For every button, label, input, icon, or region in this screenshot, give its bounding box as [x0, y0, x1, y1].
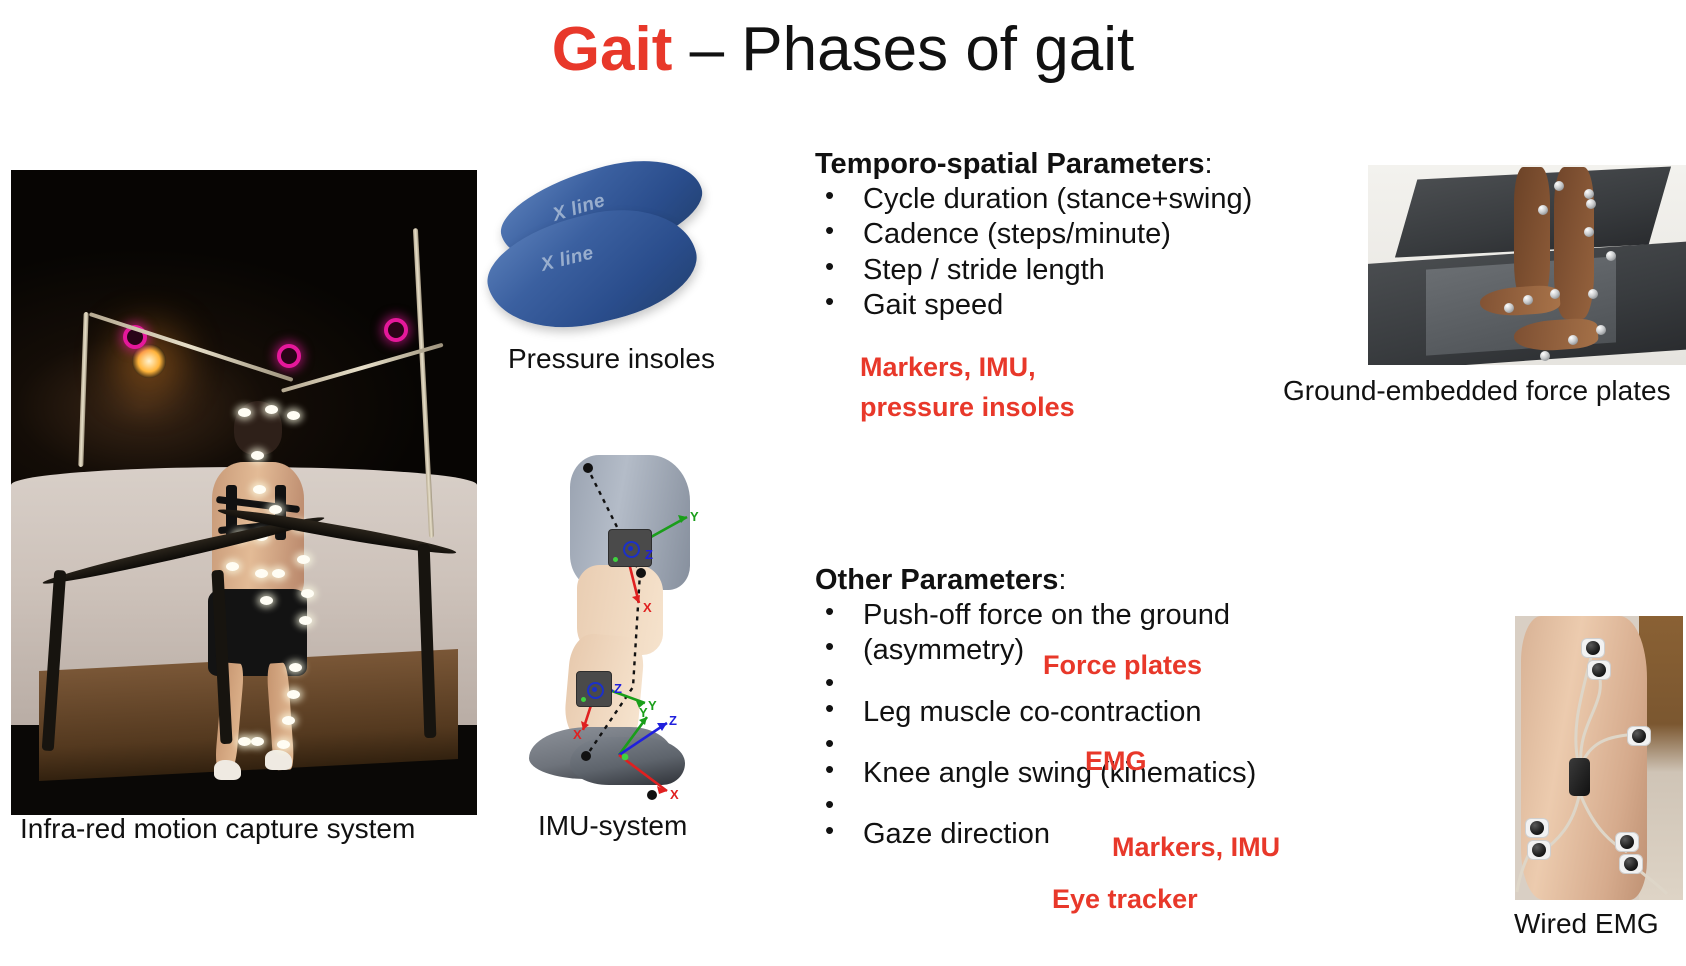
list-spacer	[815, 791, 1285, 817]
caption-motion-capture: Infra-red motion capture system	[20, 813, 415, 845]
emg-electrode	[1587, 660, 1611, 680]
temporo-heading-tail: :	[1205, 148, 1213, 180]
caption-wired-emg: Wired EMG	[1514, 908, 1659, 940]
emg-electrode	[1627, 726, 1651, 746]
ir-camera-led-icon	[384, 318, 408, 342]
axis-label-x: X	[643, 600, 652, 615]
emg-electrode	[1527, 840, 1551, 860]
subject-leg	[1514, 167, 1550, 303]
emg-electrode	[1581, 638, 1605, 658]
tag-eye-tracker: Eye tracker	[1052, 884, 1198, 915]
axis-label-y: Y	[639, 705, 648, 720]
reflective-marker	[1523, 295, 1533, 305]
subject-right-shoe	[265, 750, 292, 770]
motion-capture-photo	[11, 170, 477, 815]
list-item: Step / stride length	[815, 253, 1285, 288]
list-item: Push-off force on the ground	[815, 598, 1285, 633]
reflective-marker	[1568, 335, 1578, 345]
temporo-spatial-block: Temporo-spatial Parameters: Cycle durati…	[815, 147, 1285, 323]
title-accent: Gait	[552, 15, 673, 84]
tag-emg: EMG	[1085, 746, 1147, 777]
caption-force-plates: Ground-embedded force plates	[1283, 375, 1671, 407]
reflective-marker	[1606, 251, 1616, 261]
list-item: Gait speed	[815, 288, 1285, 323]
insole-brand-label: X line	[539, 243, 596, 277]
axis-label-x: X	[573, 727, 582, 742]
emg-electrode	[1619, 854, 1643, 874]
temporo-tag-line1: Markers, IMU,	[860, 352, 1036, 383]
axis-label-x: X	[670, 787, 679, 802]
reflective-marker	[1586, 199, 1596, 209]
emg-electrode	[1615, 832, 1639, 852]
reflective-marker	[1588, 289, 1598, 299]
axis-label-y: Y	[648, 698, 657, 713]
force-plates-photo	[1368, 165, 1686, 365]
reflective-marker	[1554, 181, 1564, 191]
tag-force-plates: Force plates	[1043, 650, 1202, 681]
temporo-heading-bold: Temporo-spatial Parameters	[815, 148, 1205, 180]
joint-marker	[583, 463, 593, 473]
caption-pressure-insoles: Pressure insoles	[508, 343, 715, 375]
axis-label-z: Z	[614, 681, 622, 696]
joint-marker	[647, 790, 657, 800]
axis-label-y: Y	[690, 509, 699, 524]
reflective-marker	[1584, 227, 1594, 237]
temporo-tag-line2: pressure insoles	[860, 392, 1075, 423]
other-parameters-block: Other Parameters: Push-off force on the …	[815, 563, 1285, 853]
list-spacer	[815, 730, 1285, 756]
subject-left-shoe	[214, 760, 241, 780]
list-item: Knee angle swing (kinematics)	[815, 756, 1285, 791]
imu-system-illustration: Y X Z Y X Z Y Z X	[515, 455, 725, 825]
emg-amplifier-module	[1569, 758, 1590, 796]
joint-marker	[636, 568, 646, 578]
temporo-heading: Temporo-spatial Parameters:	[815, 147, 1285, 182]
reflective-marker	[1538, 205, 1548, 215]
list-item: Cycle duration (stance+swing)	[815, 182, 1285, 217]
reflective-marker	[1540, 351, 1550, 361]
reflective-marker	[1550, 289, 1560, 299]
reflective-marker	[1504, 303, 1514, 313]
temporo-bullet-list: Cycle duration (stance+swing) Cadence (s…	[815, 182, 1285, 324]
imu-sensor-shank	[576, 671, 612, 707]
reflective-marker	[1584, 189, 1594, 199]
reflective-marker	[1596, 325, 1606, 335]
title-rest: – Phases of gait	[672, 15, 1134, 84]
axis-label-z: Z	[669, 713, 677, 728]
emg-electrode	[1525, 818, 1549, 838]
other-heading-bold: Other Parameters	[815, 564, 1058, 596]
list-item: Cadence (steps/minute)	[815, 217, 1285, 252]
joint-marker	[581, 751, 591, 761]
wired-emg-photo	[1515, 616, 1683, 900]
pressure-insoles-photo: X line X line	[487, 163, 719, 343]
slide-canvas: Gait – Phases of gait	[0, 0, 1686, 966]
axis-label-z: Z	[645, 547, 653, 562]
page-title: Gait – Phases of gait	[0, 14, 1686, 85]
tag-markers-imu: Markers, IMU	[1112, 832, 1280, 863]
other-bullet-list: Push-off force on the ground (asymmetry)…	[815, 598, 1285, 853]
other-heading: Other Parameters:	[815, 563, 1285, 598]
list-item: Leg muscle co-contraction	[815, 695, 1285, 730]
ir-camera-led-icon	[277, 344, 301, 368]
other-heading-tail: :	[1058, 564, 1066, 596]
caption-imu-system: IMU-system	[538, 810, 687, 842]
